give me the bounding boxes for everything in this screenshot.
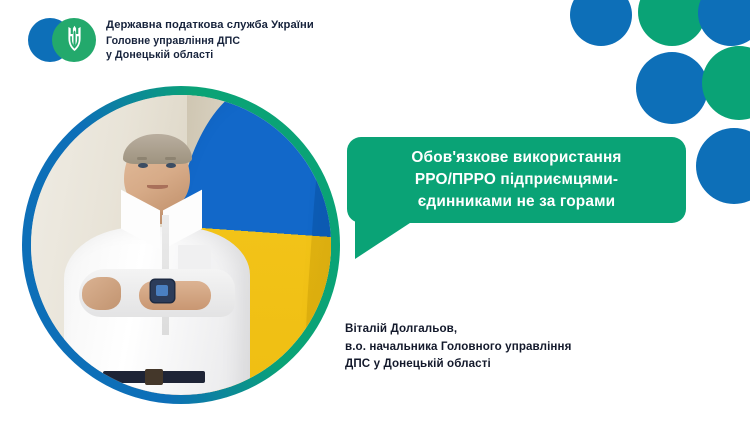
photo-eye-right [166, 163, 176, 168]
bubble-line-1: Обов'язкове використання [411, 147, 621, 169]
poster-canvas: Державна податкова служба України Головн… [0, 0, 750, 422]
organisation-logo: Державна податкова служба України Головн… [28, 18, 314, 62]
photo-forearm [139, 281, 211, 310]
caption-line-3: ДПС у Донецькій області [345, 355, 572, 373]
speech-bubble-text: Обов'язкове використання РРО/ПРРО підпри… [347, 137, 686, 223]
green-circle-tryzub-icon [52, 18, 96, 62]
logo-line-2: Головне управління ДПС [106, 35, 314, 49]
dot-r1-c2 [638, 0, 706, 46]
speaker-caption: Віталій Долгальов, в.о. начальника Голов… [345, 320, 572, 373]
caption-line-1: Віталій Долгальов, [345, 320, 572, 338]
dot-r2-c2 [636, 52, 708, 124]
portrait [22, 86, 340, 404]
speech-bubble: Обов'язкове використання РРО/ПРРО підпри… [347, 137, 686, 223]
photo-wristwatch [151, 280, 174, 303]
portrait-scene [31, 95, 331, 395]
photo-shirt-pocket [178, 245, 211, 272]
dot-r3-c3 [696, 128, 750, 204]
portrait-photo [31, 95, 331, 395]
logo-text-block: Державна податкова служба України Головн… [106, 18, 314, 62]
speech-bubble-tail [355, 221, 413, 259]
photo-brow-right [165, 157, 176, 160]
photo-flag-fold [300, 95, 331, 395]
dot-r2-c3 [702, 46, 750, 120]
photo-belt-buckle [145, 369, 163, 385]
caption-line-2: в.о. начальника Головного управління [345, 338, 572, 356]
photo-brow-left [137, 157, 148, 160]
logo-line-1: Державна податкова служба України [106, 18, 314, 32]
logo-line-3: у Донецькій області [106, 49, 314, 63]
dot-r1-c3 [698, 0, 750, 46]
bubble-line-2: РРО/ПРРО підприємцями- [415, 169, 618, 191]
dot-r1-c1 [570, 0, 632, 46]
bubble-line-3: єдинниками не за горами [418, 191, 615, 213]
photo-eye-left [138, 163, 148, 168]
photo-hand [82, 277, 121, 310]
logo-emblem [28, 18, 96, 62]
